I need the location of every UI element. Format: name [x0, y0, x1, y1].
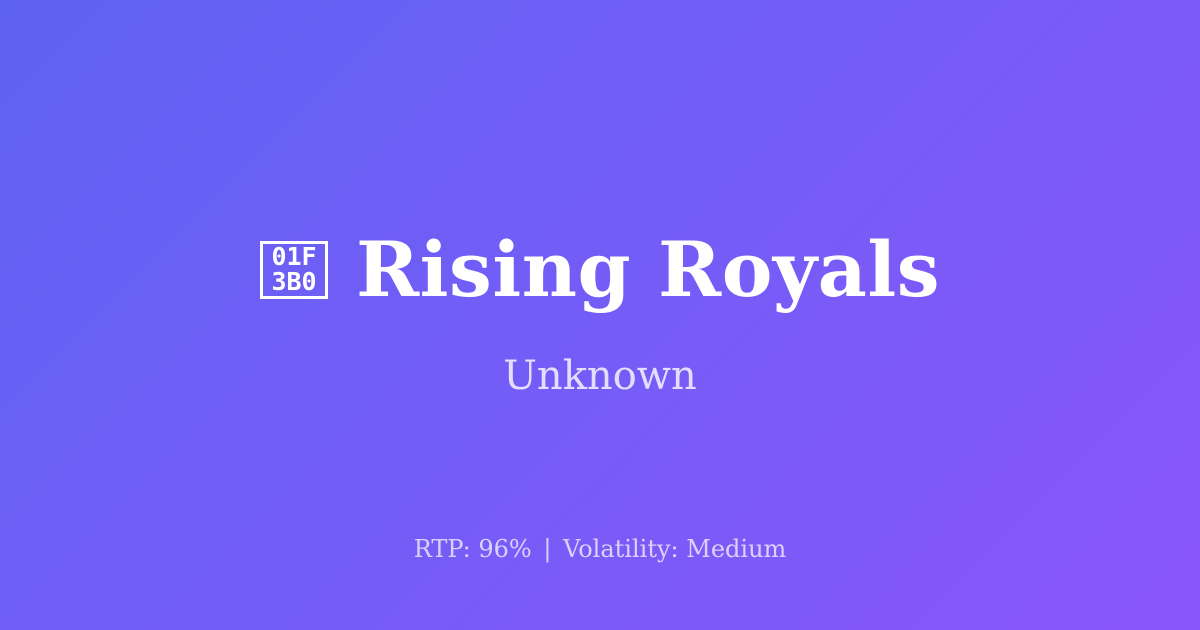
- provider-name: Unknown: [503, 352, 697, 400]
- meta-separator: |: [539, 535, 555, 563]
- glyph-codepoint-bottom: 3B0: [271, 270, 316, 295]
- slot-machine-emoji-missing-glyph-icon: 01F 3B0: [260, 241, 328, 299]
- rtp-label: RTP: 96%: [414, 535, 532, 563]
- game-meta-line: RTP: 96% | Volatility: Medium: [0, 535, 1200, 564]
- title-row: 01F 3B0 Rising Royals: [260, 230, 940, 310]
- game-title: Rising Royals: [356, 230, 940, 310]
- og-preview-card: 01F 3B0 Rising Royals Unknown RTP: 96% |…: [0, 0, 1200, 630]
- volatility-label: Volatility: Medium: [563, 535, 786, 563]
